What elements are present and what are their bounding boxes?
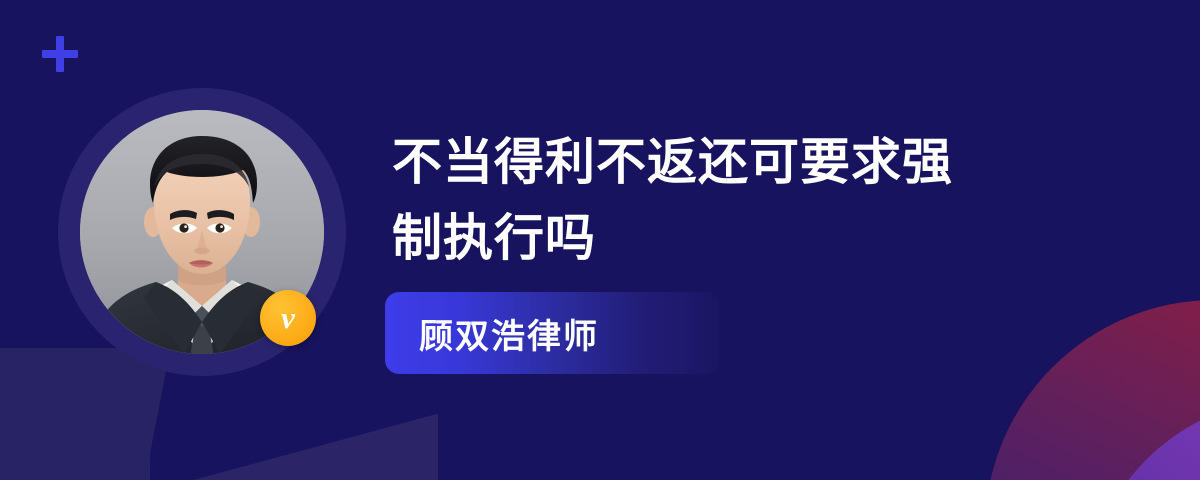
avatar: v <box>58 88 346 376</box>
decorative-triangle <box>180 414 438 480</box>
decorative-slab-notch <box>0 398 150 480</box>
content-block: 不当得利不返还可要求强 制执行吗 <box>392 124 1092 276</box>
article-banner: v 不当得利不返还可要求强 制执行吗 顾双浩律师 <box>0 0 1200 480</box>
author-name-button[interactable]: 顾双浩律师 <box>385 292 719 374</box>
plus-icon <box>42 36 78 72</box>
verified-check-glyph: v <box>281 302 295 333</box>
decorative-circle-purple <box>1085 398 1200 480</box>
verified-badge-icon: v <box>260 290 316 346</box>
page-title: 不当得利不返还可要求强 制执行吗 <box>392 124 1092 276</box>
decorative-circle-maroon <box>985 300 1200 480</box>
